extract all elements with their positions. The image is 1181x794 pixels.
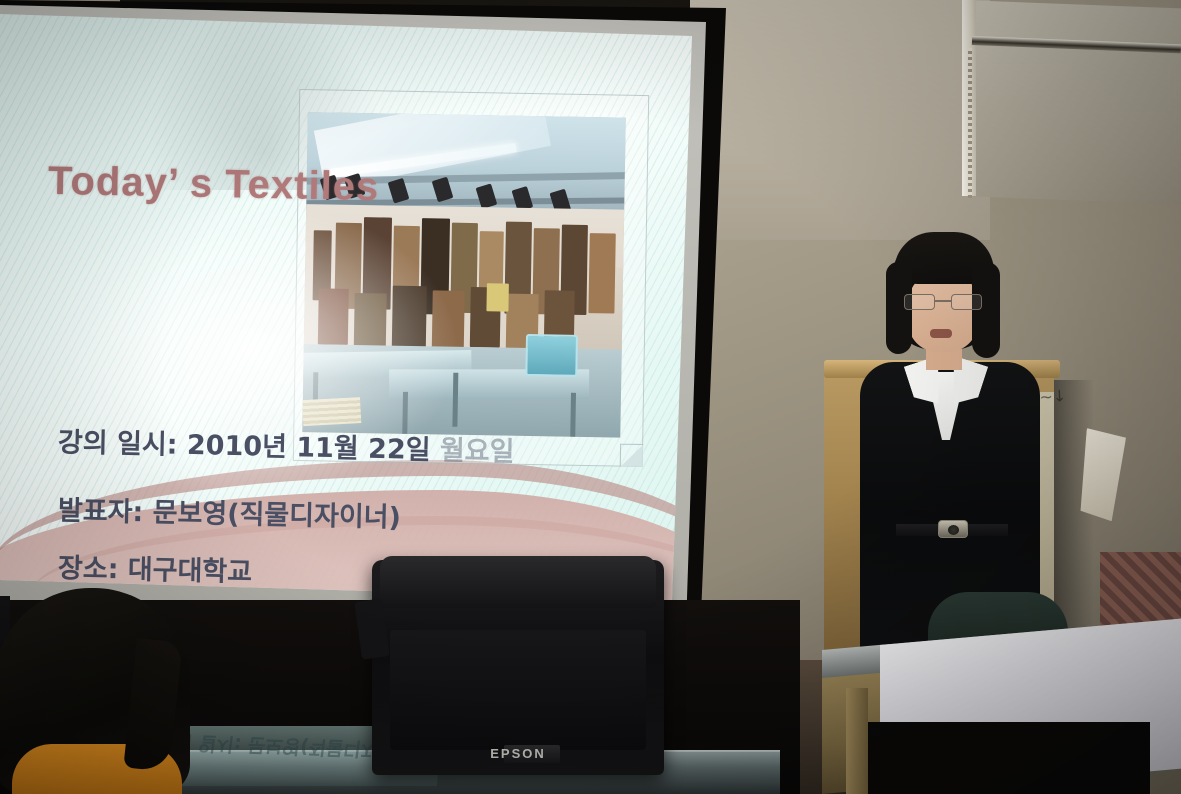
slide-line-presenter-value: 문보영(직물디자이너)	[152, 497, 401, 533]
slide-line-presenter: 발표자: 문보영(직물디자이너)	[58, 488, 402, 534]
slide-photo-frame	[293, 89, 649, 467]
speaker-hair-right	[972, 262, 1000, 358]
epson-logo: EPSON	[372, 746, 664, 761]
photo-fabric-swatch	[432, 290, 465, 349]
epson-projector-bag: EPSON	[372, 560, 664, 775]
photo-table-leg	[570, 393, 576, 437]
front-table-leg	[846, 688, 868, 794]
photo-fabric-swatch	[588, 233, 615, 313]
slide-line-date-weekday: 월요일	[440, 435, 515, 468]
photo-fabric-stack	[302, 397, 361, 426]
slide-line-date-value: 2010년 11월 22일	[187, 430, 431, 466]
photo-fabric-swatch	[354, 293, 387, 348]
slide-line-venue-value: 대구대학교	[128, 554, 253, 588]
photo-table-leg	[452, 373, 458, 427]
photo-fabric-swatch	[486, 283, 508, 311]
blind-chain[interactable]	[968, 48, 972, 198]
slide-photo	[302, 112, 626, 438]
slide-line-venue-label: 장소:	[58, 553, 119, 585]
front-table-underside	[860, 722, 1150, 794]
lecture-room-scene: Today’ s Textiles 강의 일시: 2010년 11월 22일 월…	[0, 0, 1181, 794]
upper-right-wall	[690, 0, 990, 240]
glasses-lens-right	[951, 294, 982, 310]
slide-line-presenter-label: 발표자:	[58, 495, 144, 528]
speaker-mouth	[930, 329, 952, 338]
photo-blue-bin	[525, 334, 578, 377]
bag-flap	[380, 556, 656, 608]
glasses-icon	[904, 294, 982, 310]
photo-fabric-swatch	[318, 288, 349, 345]
photo-fabric-swatch	[392, 286, 427, 349]
window-blind	[962, 0, 1181, 204]
slide-title: Today’ s Textiles	[48, 159, 380, 210]
slide-line-venue: 장소: 대구대학교	[58, 546, 253, 589]
slide-line-date-label: 강의 일시:	[58, 427, 178, 460]
presentation-slide: Today’ s Textiles 강의 일시: 2010년 11월 22일 월…	[0, 0, 712, 620]
bag-pocket	[390, 630, 646, 750]
buckle-center	[948, 525, 959, 535]
glasses-bridge	[935, 300, 951, 302]
speaker-belt-buckle	[938, 520, 968, 538]
glasses-lens-left	[904, 294, 935, 310]
